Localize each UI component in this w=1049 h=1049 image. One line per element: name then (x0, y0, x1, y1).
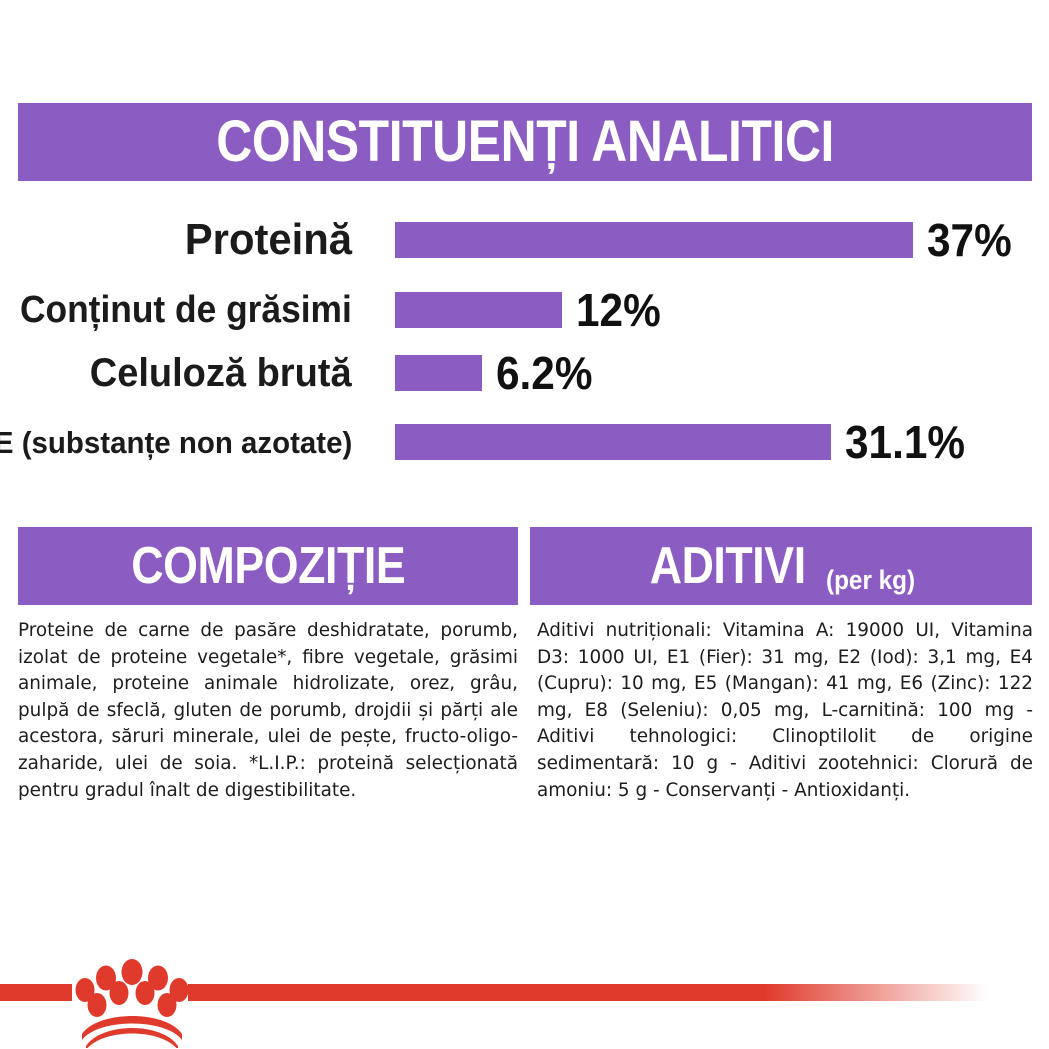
bar-track-protein (395, 222, 913, 258)
bar-track-fibre (395, 355, 482, 391)
bar-label-fibre: Celuloză brută (90, 353, 352, 393)
additives-header: ADITIVI (per kg) (530, 527, 1032, 605)
bar-value-nfe: 31.1% (845, 419, 965, 465)
brand-footer (0, 962, 1049, 1049)
chart-row: SNE (substanțe non azotate) 31.1% (0, 417, 1049, 467)
bar-fat (395, 292, 562, 328)
bar-label-nfe: SNE (substanțe non azotate) (0, 427, 352, 458)
product-info-panel: CONSTITUENȚI ANALITICI Proteină 37% Conț… (0, 0, 1049, 1049)
composition-body: Proteine de carne de pasăre deshidratate… (18, 618, 518, 804)
bar-track-nfe (395, 424, 831, 460)
bar-label-protein: Proteină (185, 218, 352, 262)
composition-header: COMPOZIȚIE (18, 527, 518, 605)
bar-nfe (395, 424, 831, 460)
composition-title: COMPOZIȚIE (131, 540, 405, 592)
analytical-constituents-header: CONSTITUENȚI ANALITICI (18, 103, 1032, 181)
brand-rule-left (0, 984, 72, 1001)
analytical-constituents-chart: Proteină 37% Conținut de grăsimi 12% Cel… (0, 195, 1049, 480)
bar-track-fat (395, 292, 562, 328)
bar-label-fat: Conținut de grăsimi (20, 291, 352, 329)
brand-rule-right (188, 984, 988, 1001)
bar-value-fibre: 6.2% (496, 350, 592, 396)
bar-protein (395, 222, 913, 258)
chart-row: Celuloză brută 6.2% (0, 348, 1049, 398)
analytical-constituents-title: CONSTITUENȚI ANALITICI (216, 113, 834, 171)
bar-value-protein: 37% (927, 217, 1012, 263)
bar-value-fat: 12% (576, 287, 661, 333)
chart-row: Conținut de grăsimi 12% (0, 285, 1049, 335)
chart-row: Proteină 37% (0, 215, 1049, 265)
additives-title-wrap: ADITIVI (per kg) (637, 540, 924, 592)
additives-body: Aditivi nutriționali: Vitamina A: 19000 … (537, 618, 1033, 804)
bar-fibre (395, 355, 482, 391)
composition-paragraph: Proteine de carne de pasăre deshidratate… (18, 618, 518, 804)
royal-canin-crown-icon (72, 958, 192, 1048)
additives-paragraph: Aditivi nutriționali: Vitamina A: 19000 … (537, 618, 1033, 804)
additives-subtitle: (per kg) (826, 567, 915, 594)
additives-title: ADITIVI (650, 540, 806, 592)
